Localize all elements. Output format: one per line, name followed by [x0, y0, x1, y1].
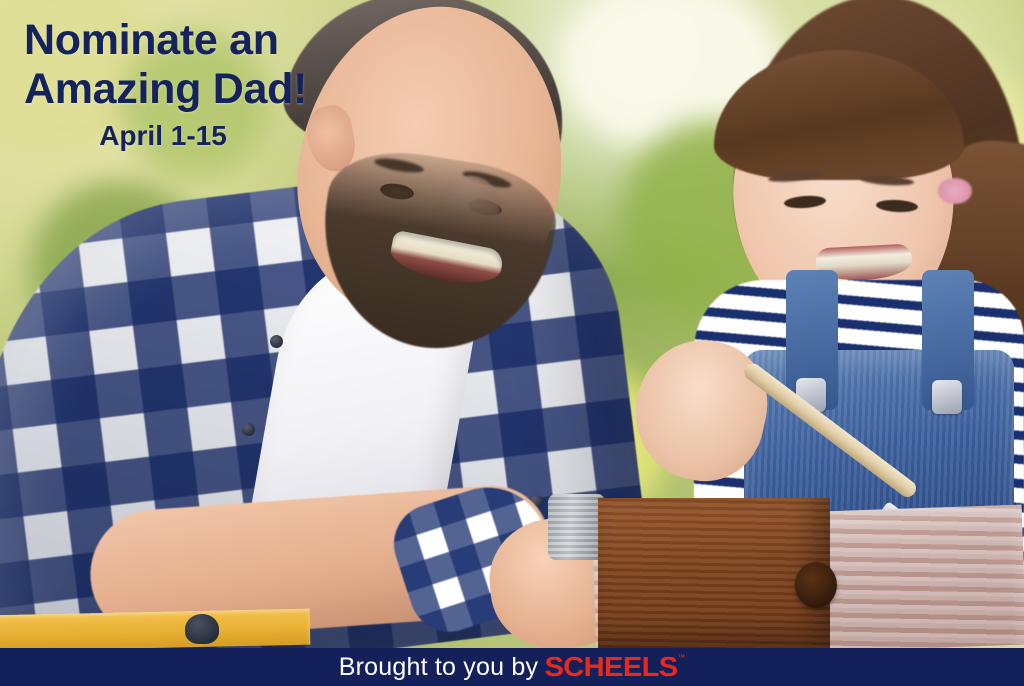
birdhouse-entry-hole: [795, 562, 837, 608]
headline-line-1: Nominate an: [24, 16, 364, 65]
shirt-button: [270, 335, 283, 348]
duct-tape-roll: [548, 494, 604, 560]
shirt-button: [242, 423, 255, 436]
promo-poster: Nominate an Amazing Dad! April 1-15 Brou…: [0, 0, 1024, 686]
headline-block: Nominate an Amazing Dad! April 1-15: [24, 16, 364, 153]
scheels-logo: SCHEELS ™: [547, 653, 685, 681]
scheels-wordmark: SCHEELS: [545, 653, 678, 681]
trademark-symbol: ™: [677, 654, 685, 662]
date-range: April 1-15: [24, 119, 364, 153]
level-knob: [185, 614, 219, 644]
sponsor-banner: Brought to you by SCHEELS ™: [0, 648, 1024, 686]
overall-buckle: [932, 380, 962, 414]
girl-hair-tie: [938, 178, 972, 204]
birdhouse: [598, 498, 830, 648]
headline-line-2: Amazing Dad!: [24, 65, 364, 114]
sponsor-prefix-text: Brought to you by: [339, 655, 538, 680]
yellow-level-tool: [0, 609, 310, 648]
